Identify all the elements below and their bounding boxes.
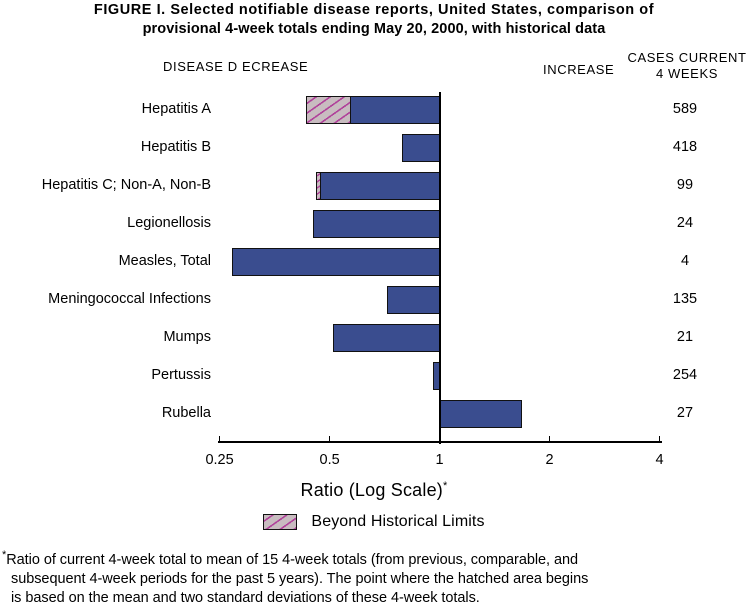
x-axis-tick-label-0.5: 0.5 bbox=[300, 452, 360, 468]
chart-row: Hepatitis C; Non-A, Non-B99 bbox=[0, 168, 748, 206]
bar-legionellosis bbox=[313, 210, 440, 238]
legend: Beyond Historical Limits bbox=[0, 513, 748, 531]
x-axis-tick-label-2: 2 bbox=[520, 452, 580, 468]
chart-row: Mumps21 bbox=[0, 320, 748, 358]
legend-label-beyond-historical-limits: Beyond Historical Limits bbox=[311, 513, 484, 531]
page-title: FIGURE I. Selected notifiable disease re… bbox=[6, 1, 742, 39]
column-header-cases-current-4-weeks: CASES CURRENT 4 WEEKS bbox=[626, 50, 748, 82]
bar-rubella bbox=[440, 400, 522, 428]
disease-label: Mumps bbox=[163, 329, 211, 345]
cases-value: 21 bbox=[648, 329, 722, 345]
x-axis-title-text: Ratio (Log Scale) bbox=[301, 480, 443, 500]
disease-label: Pertussis bbox=[151, 367, 211, 383]
x-axis-tick-1 bbox=[439, 436, 441, 443]
cases-value: 135 bbox=[648, 291, 722, 307]
x-axis-tick-label-4: 4 bbox=[630, 452, 690, 468]
bar-hepatitis-a bbox=[306, 96, 440, 124]
figure-container: FIGURE I. Selected notifiable disease re… bbox=[0, 0, 748, 604]
reference-line-ratio-1 bbox=[439, 92, 441, 444]
bar-meningococcal-infections bbox=[387, 286, 439, 314]
disease-label: Hepatitis C; Non-A, Non-B bbox=[42, 177, 211, 193]
bar-measles-total bbox=[232, 248, 440, 276]
footnote-line-2: subsequent 4-week periods for the past 5… bbox=[2, 570, 746, 589]
chart-row: Pertussis254 bbox=[0, 358, 748, 396]
title-line-2: provisional 4-week totals ending May 20,… bbox=[6, 20, 742, 39]
cases-header-line-2: 4 WEEKS bbox=[656, 66, 718, 81]
cases-value: 418 bbox=[648, 139, 722, 155]
chart-row: Hepatitis A589 bbox=[0, 92, 748, 130]
footnote: *Ratio of current 4-week total to mean o… bbox=[2, 546, 746, 608]
x-axis-title-superscript: * bbox=[443, 480, 447, 492]
legend-swatch-beyond-historical-limits bbox=[263, 514, 297, 530]
disease-label: Hepatitis B bbox=[141, 139, 211, 155]
beyond-historical-limits-segment bbox=[307, 97, 352, 123]
cases-value: 4 bbox=[648, 253, 722, 269]
chart-row: Hepatitis B418 bbox=[0, 130, 748, 168]
disease-label: Meningococcal Infections bbox=[48, 291, 211, 307]
x-axis-tick-0.5 bbox=[329, 436, 331, 443]
disease-label: Hepatitis A bbox=[142, 101, 211, 117]
footnote-text-1: Ratio of current 4-week total to mean of… bbox=[6, 552, 578, 568]
x-axis-title: Ratio (Log Scale)* bbox=[0, 480, 748, 501]
column-header-disease-decrease: DISEASE D ECREASE bbox=[163, 59, 308, 74]
cases-value: 589 bbox=[648, 101, 722, 117]
cases-value: 24 bbox=[648, 215, 722, 231]
chart-row: Rubella27 bbox=[0, 396, 748, 434]
cases-value: 99 bbox=[648, 177, 722, 193]
title-line-1: FIGURE I. Selected notifiable disease re… bbox=[6, 1, 742, 20]
bar-hepatitis-c-non-a-non-b bbox=[316, 172, 439, 200]
x-axis-tick-4 bbox=[659, 436, 661, 443]
x-axis-tick-label-0.25: 0.25 bbox=[190, 452, 250, 468]
disease-label: Measles, Total bbox=[119, 253, 211, 269]
bar-hepatitis-b bbox=[402, 134, 439, 162]
x-axis-tick-0.25 bbox=[219, 436, 221, 443]
footnote-line-1: *Ratio of current 4-week total to mean o… bbox=[2, 546, 746, 570]
bar-mumps bbox=[333, 324, 440, 352]
chart-row: Measles, Total4 bbox=[0, 244, 748, 282]
disease-label: Rubella bbox=[162, 405, 211, 421]
x-axis-tick-label-1: 1 bbox=[410, 452, 470, 468]
cases-value: 254 bbox=[648, 367, 722, 383]
disease-label: Legionellosis bbox=[127, 215, 211, 231]
plot-area: Hepatitis A589Hepatitis B418Hepatitis C;… bbox=[0, 92, 748, 442]
cases-value: 27 bbox=[648, 405, 722, 421]
chart-row: Meningococcal Infections135 bbox=[0, 282, 748, 320]
cases-header-line-1: CASES CURRENT bbox=[627, 50, 746, 65]
footnote-line-3: is based on the mean and two standard de… bbox=[2, 589, 746, 608]
beyond-historical-limits-segment bbox=[317, 173, 320, 199]
x-axis-tick-2 bbox=[549, 436, 551, 443]
chart-row: Legionellosis24 bbox=[0, 206, 748, 244]
column-header-increase: INCREASE bbox=[543, 62, 614, 77]
